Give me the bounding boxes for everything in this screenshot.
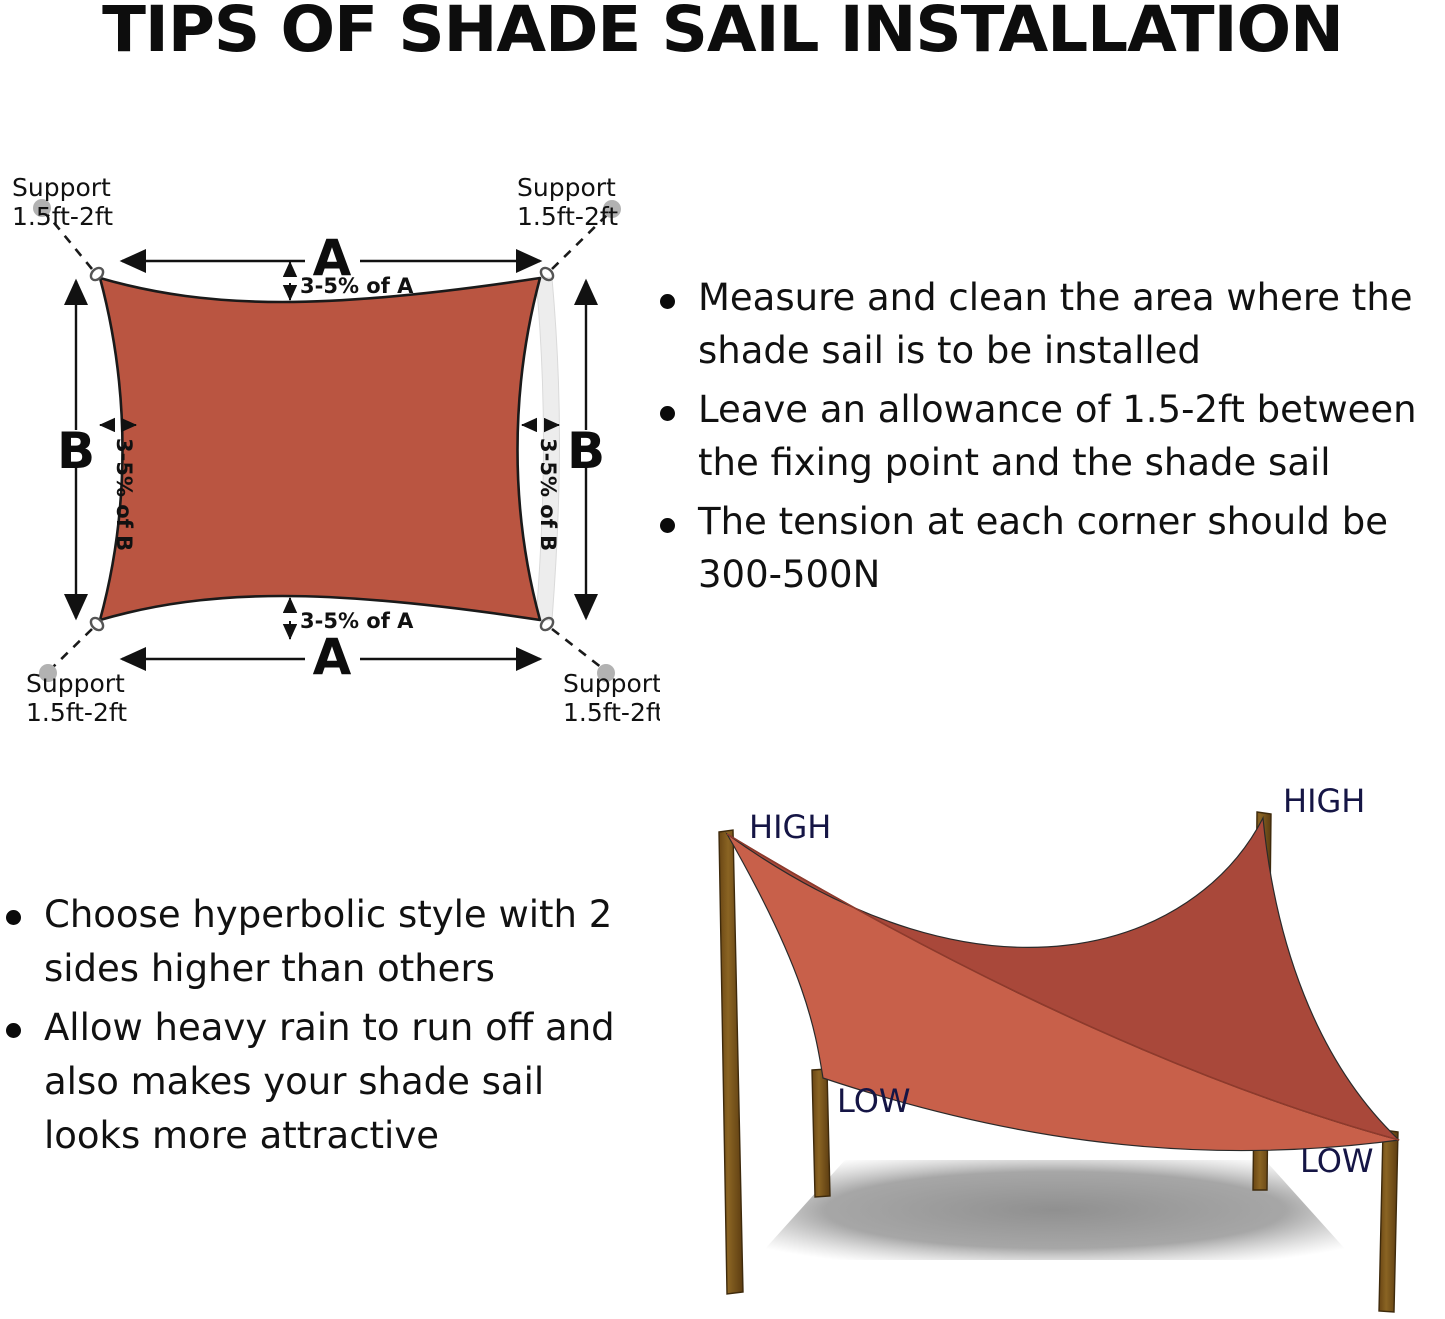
- tip-text: The tension at each corner should be 300…: [698, 500, 1388, 596]
- rectangular-sail-diagram: Support 1.5ft-2ft Support 1.5ft-2ft Supp…: [0, 150, 660, 730]
- curvature-top-label: 3-5% of A: [300, 274, 414, 298]
- curvature-bottom-label: 3-5% of A: [300, 609, 414, 633]
- bullet-dot-icon: [660, 406, 675, 421]
- curvature-bottom: 3-5% of A: [290, 598, 414, 639]
- dimension-a-bottom: A: [122, 628, 540, 686]
- label-low-left: LOW: [837, 1082, 911, 1120]
- tip-text: Leave an allowance of 1.5-2ft between th…: [698, 388, 1417, 484]
- label-high-left: HIGH: [749, 808, 831, 846]
- dimension-a-bottom-label: A: [313, 628, 352, 686]
- label-low-right: LOW: [1300, 1142, 1374, 1180]
- tip-text: Measure and clean the area where the sha…: [698, 276, 1413, 372]
- hyperbolic-sail-diagram: HIGH HIGH LOW LOW: [655, 760, 1445, 1319]
- support-bottom-right-line1: Support: [563, 669, 660, 698]
- tip-text: Allow heavy rain to run off and also mak…: [44, 1006, 615, 1156]
- list-item: Measure and clean the area where the sha…: [648, 272, 1445, 378]
- tips-list-left: Choose hyperbolic style with 2 sides hig…: [0, 888, 625, 1168]
- post-high-left: [719, 830, 743, 1294]
- bullet-dot-icon: [660, 518, 675, 533]
- list-item: Choose hyperbolic style with 2 sides hig…: [0, 888, 625, 995]
- curvature-right: 3-5% of B: [522, 425, 560, 551]
- support-top-right-line1: Support: [517, 173, 616, 202]
- tip-text: Choose hyperbolic style with 2 sides hig…: [44, 893, 612, 990]
- tips-list-right: Measure and clean the area where the sha…: [648, 272, 1445, 607]
- list-item: Leave an allowance of 1.5-2ft between th…: [648, 384, 1445, 490]
- post-low-left: [812, 1069, 830, 1197]
- curvature-left: 3-5% of B: [100, 425, 136, 551]
- support-top-left-line2: 1.5ft-2ft: [12, 202, 113, 231]
- dimension-b-right: B: [567, 281, 605, 618]
- post-low-right: [1379, 1130, 1398, 1312]
- shade-sail-shape: [100, 278, 540, 620]
- support-top-right-line2: 1.5ft-2ft: [517, 202, 618, 231]
- support-bottom-left-line2: 1.5ft-2ft: [26, 698, 127, 727]
- support-top-left-line1: Support: [12, 173, 111, 202]
- page-title: TIPS OF SHADE SAIL INSTALLATION: [0, 0, 1445, 62]
- bullet-dot-icon: [6, 1023, 21, 1038]
- dimension-b-left-label: B: [57, 422, 95, 480]
- bullet-dot-icon: [660, 294, 675, 309]
- label-high-right: HIGH: [1283, 782, 1365, 820]
- dimension-b-right-label: B: [567, 422, 605, 480]
- curvature-top: 3-5% of A: [290, 262, 414, 300]
- dimension-b-left: B: [57, 281, 95, 618]
- list-item: The tension at each corner should be 300…: [648, 496, 1445, 602]
- support-bottom-right-line2: 1.5ft-2ft: [563, 698, 660, 727]
- list-item: Allow heavy rain to run off and also mak…: [0, 1001, 625, 1162]
- curvature-left-label: 3-5% of B: [112, 438, 136, 551]
- bullet-dot-icon: [6, 910, 21, 925]
- support-bottom-left-line1: Support: [26, 669, 125, 698]
- curvature-right-label: 3-5% of B: [536, 438, 560, 551]
